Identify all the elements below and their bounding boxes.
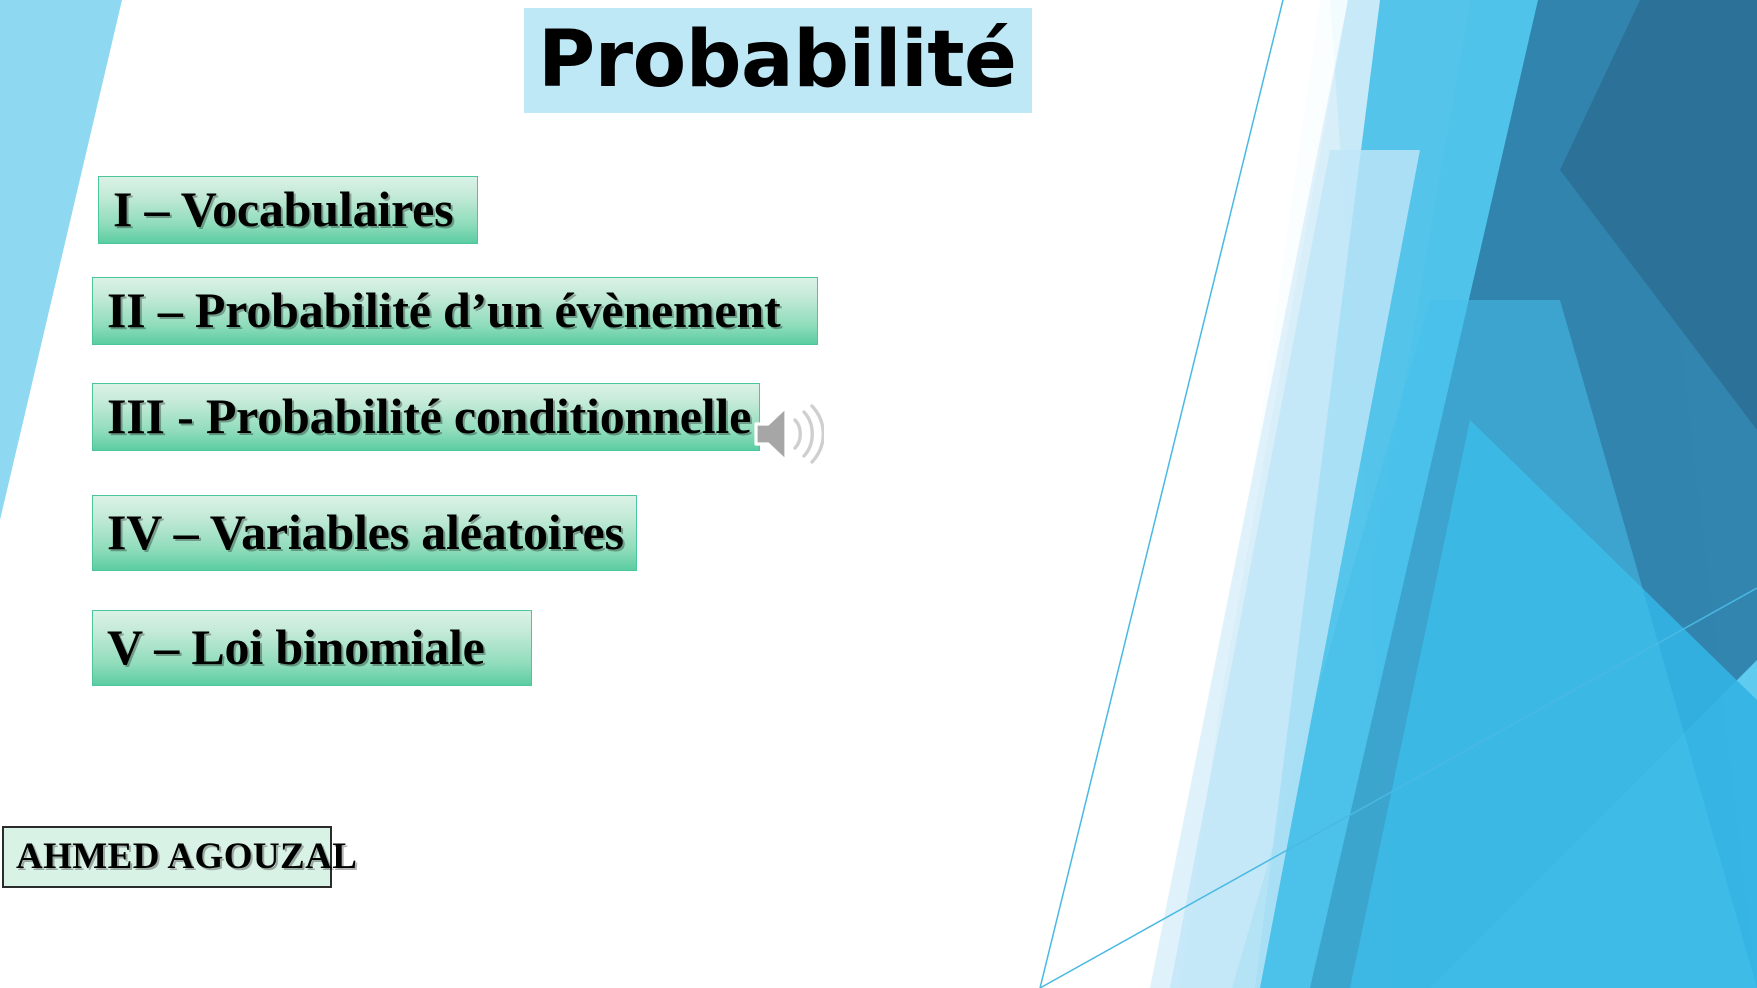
- right-shard-dark-1: [1310, 0, 1757, 988]
- section-item-iv[interactable]: IV – Variables aléatoires: [92, 495, 637, 571]
- page-title: Probabilité: [524, 8, 1032, 113]
- right-shard-mid: [1255, 0, 1757, 988]
- section-label-iii: III - Probabilité conditionnelle: [93, 391, 751, 444]
- sound-wave-arcs: [795, 406, 823, 462]
- author-name-label: AHMED AGOUZAL: [4, 838, 357, 877]
- right-shard-dark-2: [1560, 0, 1757, 430]
- author-name-box: AHMED AGOUZAL: [2, 826, 332, 888]
- right-shard-pale-1: [1180, 0, 1757, 988]
- presentation-slide: Probabilité I – Vocabulaires II – Probab…: [0, 0, 1757, 988]
- section-label-iv: IV – Variables aléatoires: [93, 507, 624, 560]
- section-item-i[interactable]: I – Vocabulaires: [98, 176, 478, 244]
- right-shard-light-2: [1350, 420, 1757, 988]
- right-shard-light-1: [1330, 0, 1757, 988]
- right-shard-light-3: [1232, 300, 1757, 988]
- section-label-ii: II – Probabilité d’un évènement: [93, 285, 780, 338]
- right-shard-white: [1075, 0, 1348, 988]
- hairline-diagonal-1: [1040, 0, 1283, 988]
- hairline-diagonal-2: [1040, 588, 1757, 988]
- section-label-v: V – Loi binomiale: [93, 622, 485, 675]
- section-item-ii[interactable]: II – Probabilité d’un évènement: [92, 277, 818, 345]
- right-shard-pale-2: [1150, 0, 1470, 988]
- right-shard-pale-3: [1170, 150, 1420, 988]
- speaker-audio-icon[interactable]: [752, 398, 824, 470]
- section-label-i: I – Vocabulaires: [99, 184, 453, 237]
- speaker-body-shape: [756, 407, 786, 461]
- section-item-iii[interactable]: III - Probabilité conditionnelle: [92, 383, 760, 451]
- section-item-v[interactable]: V – Loi binomiale: [92, 610, 532, 686]
- slide-title-container: Probabilité: [524, 8, 1032, 113]
